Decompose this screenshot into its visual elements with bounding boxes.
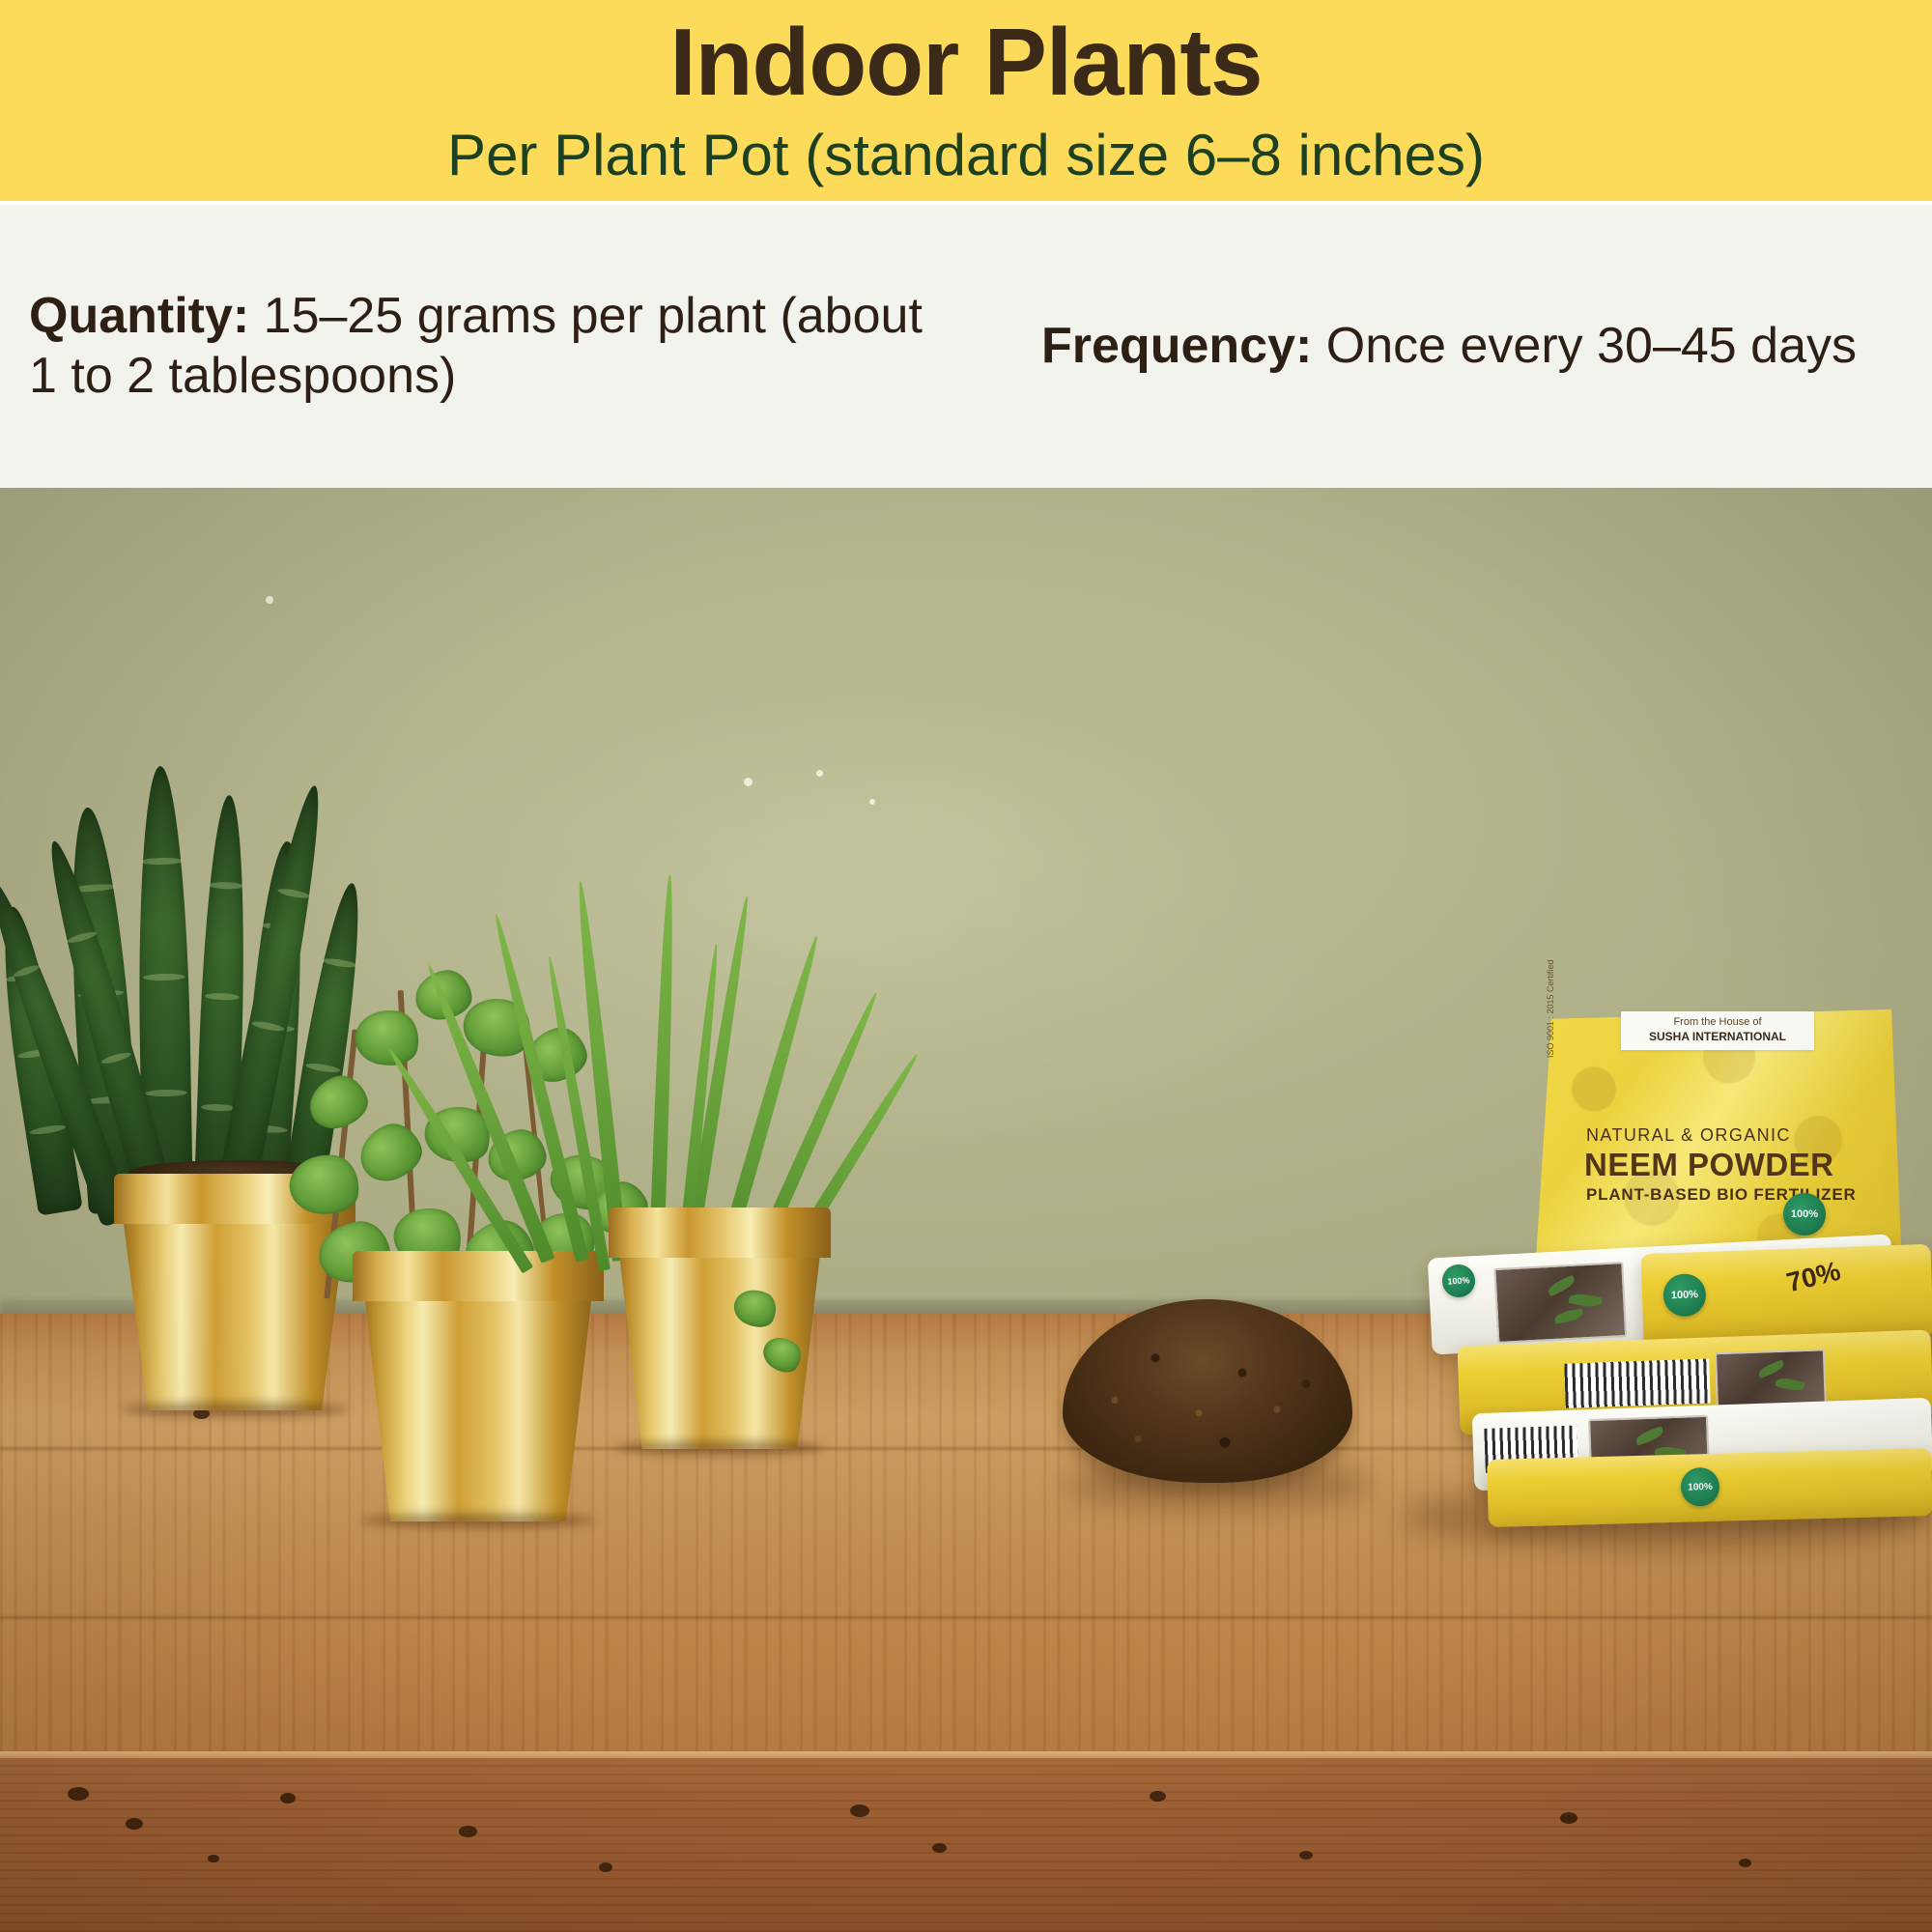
wood-knot [126,1818,143,1830]
frequency-value: Once every 30–45 days [1312,318,1857,374]
packet-photo-leaf [1757,1359,1786,1378]
pot-rim [353,1251,604,1301]
wall-speck [816,770,823,777]
wall-speck [744,778,753,786]
page-subtitle: Per Plant Pot (standard size 6–8 inches) [447,124,1485,187]
poster-root: Indoor Plants Per Plant Pot (standard si… [0,0,1932,1932]
pot-base-shadow [360,1514,596,1527]
packet-photo-leaf [1546,1275,1577,1297]
header-banner: Indoor Plants Per Plant Pot (standard si… [0,0,1932,201]
seal-percentage-text: 100% [1688,1481,1713,1492]
wood-knot [1150,1791,1166,1802]
seal-percentage-text: 100% [1791,1208,1818,1220]
packet-weight-badge: 70% [1783,1256,1843,1299]
packet-house-line: From the House of [1621,1016,1814,1028]
wood-knot [599,1862,612,1872]
packet-iso-certification: ISO 9001 : 2015 Certified [1546,959,1555,1058]
packet-photo-leaf [1568,1292,1603,1309]
wooden-table-front [0,1758,1932,1932]
seal-percentage-text: 100% [1447,1275,1470,1286]
wood-knot [208,1855,219,1862]
brass-pot-ivy-plant [353,1251,604,1521]
info-panel: Quantity: 15–25 grams per plant (about 1… [0,201,1932,488]
wall-speck [869,799,875,805]
seal-percentage-text: 100% [1671,1289,1699,1301]
packet-barcode [1564,1358,1711,1407]
frequency-label: Frequency: [1041,318,1312,374]
quality-seal-badge: 100% [1441,1264,1476,1298]
table-front-grain [0,1758,1932,1932]
packet-tagline: NATURAL & ORGANIC [1586,1125,1791,1146]
page-title: Indoor Plants [669,12,1262,114]
pot-rim [609,1207,831,1258]
info-column-quantity: Quantity: 15–25 grams per plant (about 1… [0,287,966,406]
wood-knot [850,1804,869,1817]
quality-seal-badge: 100% [1662,1273,1707,1318]
wood-knot [68,1787,89,1801]
packet-brand-name: SUSHA INTERNATIONAL [1621,1030,1814,1043]
table-plank-seam [0,1616,1932,1619]
wood-knot [932,1843,947,1853]
pot-base-shadow [615,1441,824,1455]
wall-light-sheen [290,662,1352,1164]
packet-photo-leaf [1553,1308,1584,1324]
wall-speck [266,596,273,604]
quality-seal-badge: 100% [1783,1193,1826,1236]
brass-pot-palm-plant [609,1207,831,1449]
quality-seal-badge: 100% [1680,1467,1719,1507]
packet-photo-leaf [1775,1376,1805,1393]
packet-photo-leaf [1634,1426,1665,1446]
pot-body [353,1301,604,1521]
packet-product-name: NEEM POWDER [1584,1147,1834,1183]
info-column-frequency: Frequency: Once every 30–45 days [966,317,1932,376]
wood-knot [1560,1812,1577,1824]
quantity-label: Quantity: [29,288,249,344]
neem-powder-packet-lying-bottom: 100% [1487,1448,1932,1527]
pot-base-shadow [122,1403,349,1416]
wood-knot [1739,1859,1751,1867]
wood-knot [280,1793,296,1804]
wood-knot [459,1826,477,1837]
wood-knot [1299,1851,1313,1860]
packet-product-photo [1493,1262,1627,1344]
product-photo: From the House of SUSHA INTERNATIONAL IS… [0,488,1932,1932]
